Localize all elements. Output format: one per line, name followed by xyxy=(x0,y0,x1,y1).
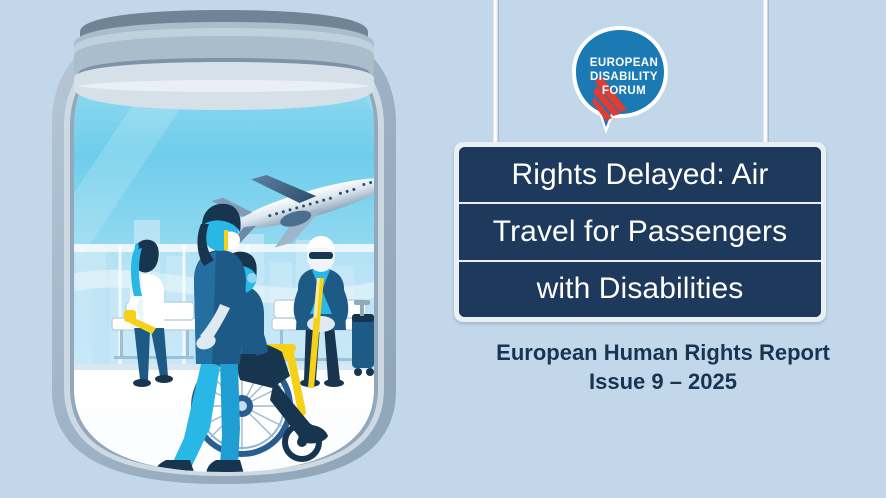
airplane-window-illustration xyxy=(34,8,414,490)
window-shade xyxy=(74,10,374,110)
logo-line-1: EUROPEAN xyxy=(590,57,658,69)
cover-page: EUROPEAN DISABILITY FORUM Rights Delayed… xyxy=(0,0,886,498)
report-issue-number: Issue 9 – 2025 xyxy=(440,367,886,396)
report-series-title: European Human Rights Report xyxy=(440,338,886,367)
subtitle-block: European Human Rights Report Issue 9 – 2… xyxy=(440,338,886,396)
sign-line-3: with Disabilities xyxy=(459,262,821,317)
european-disability-forum-logo: EUROPEAN DISABILITY FORUM xyxy=(565,22,675,137)
right-panel: EUROPEAN DISABILITY FORUM Rights Delayed… xyxy=(440,0,886,498)
edf-logo-svg: EUROPEAN DISABILITY FORUM xyxy=(565,22,675,137)
title-sign: Rights Delayed: Air Travel for Passenger… xyxy=(454,142,826,322)
sign-line-2: Travel for Passengers xyxy=(459,204,821,261)
hanger-pole-right xyxy=(762,0,769,160)
window-scene-svg xyxy=(34,8,414,490)
logo-line-2: DISABILITY xyxy=(590,71,658,83)
title-sign-inner: Rights Delayed: Air Travel for Passenger… xyxy=(459,147,821,317)
hanger-pole-left xyxy=(492,0,499,160)
sign-line-1: Rights Delayed: Air xyxy=(459,147,821,204)
logo-line-3: FORUM xyxy=(602,85,646,97)
